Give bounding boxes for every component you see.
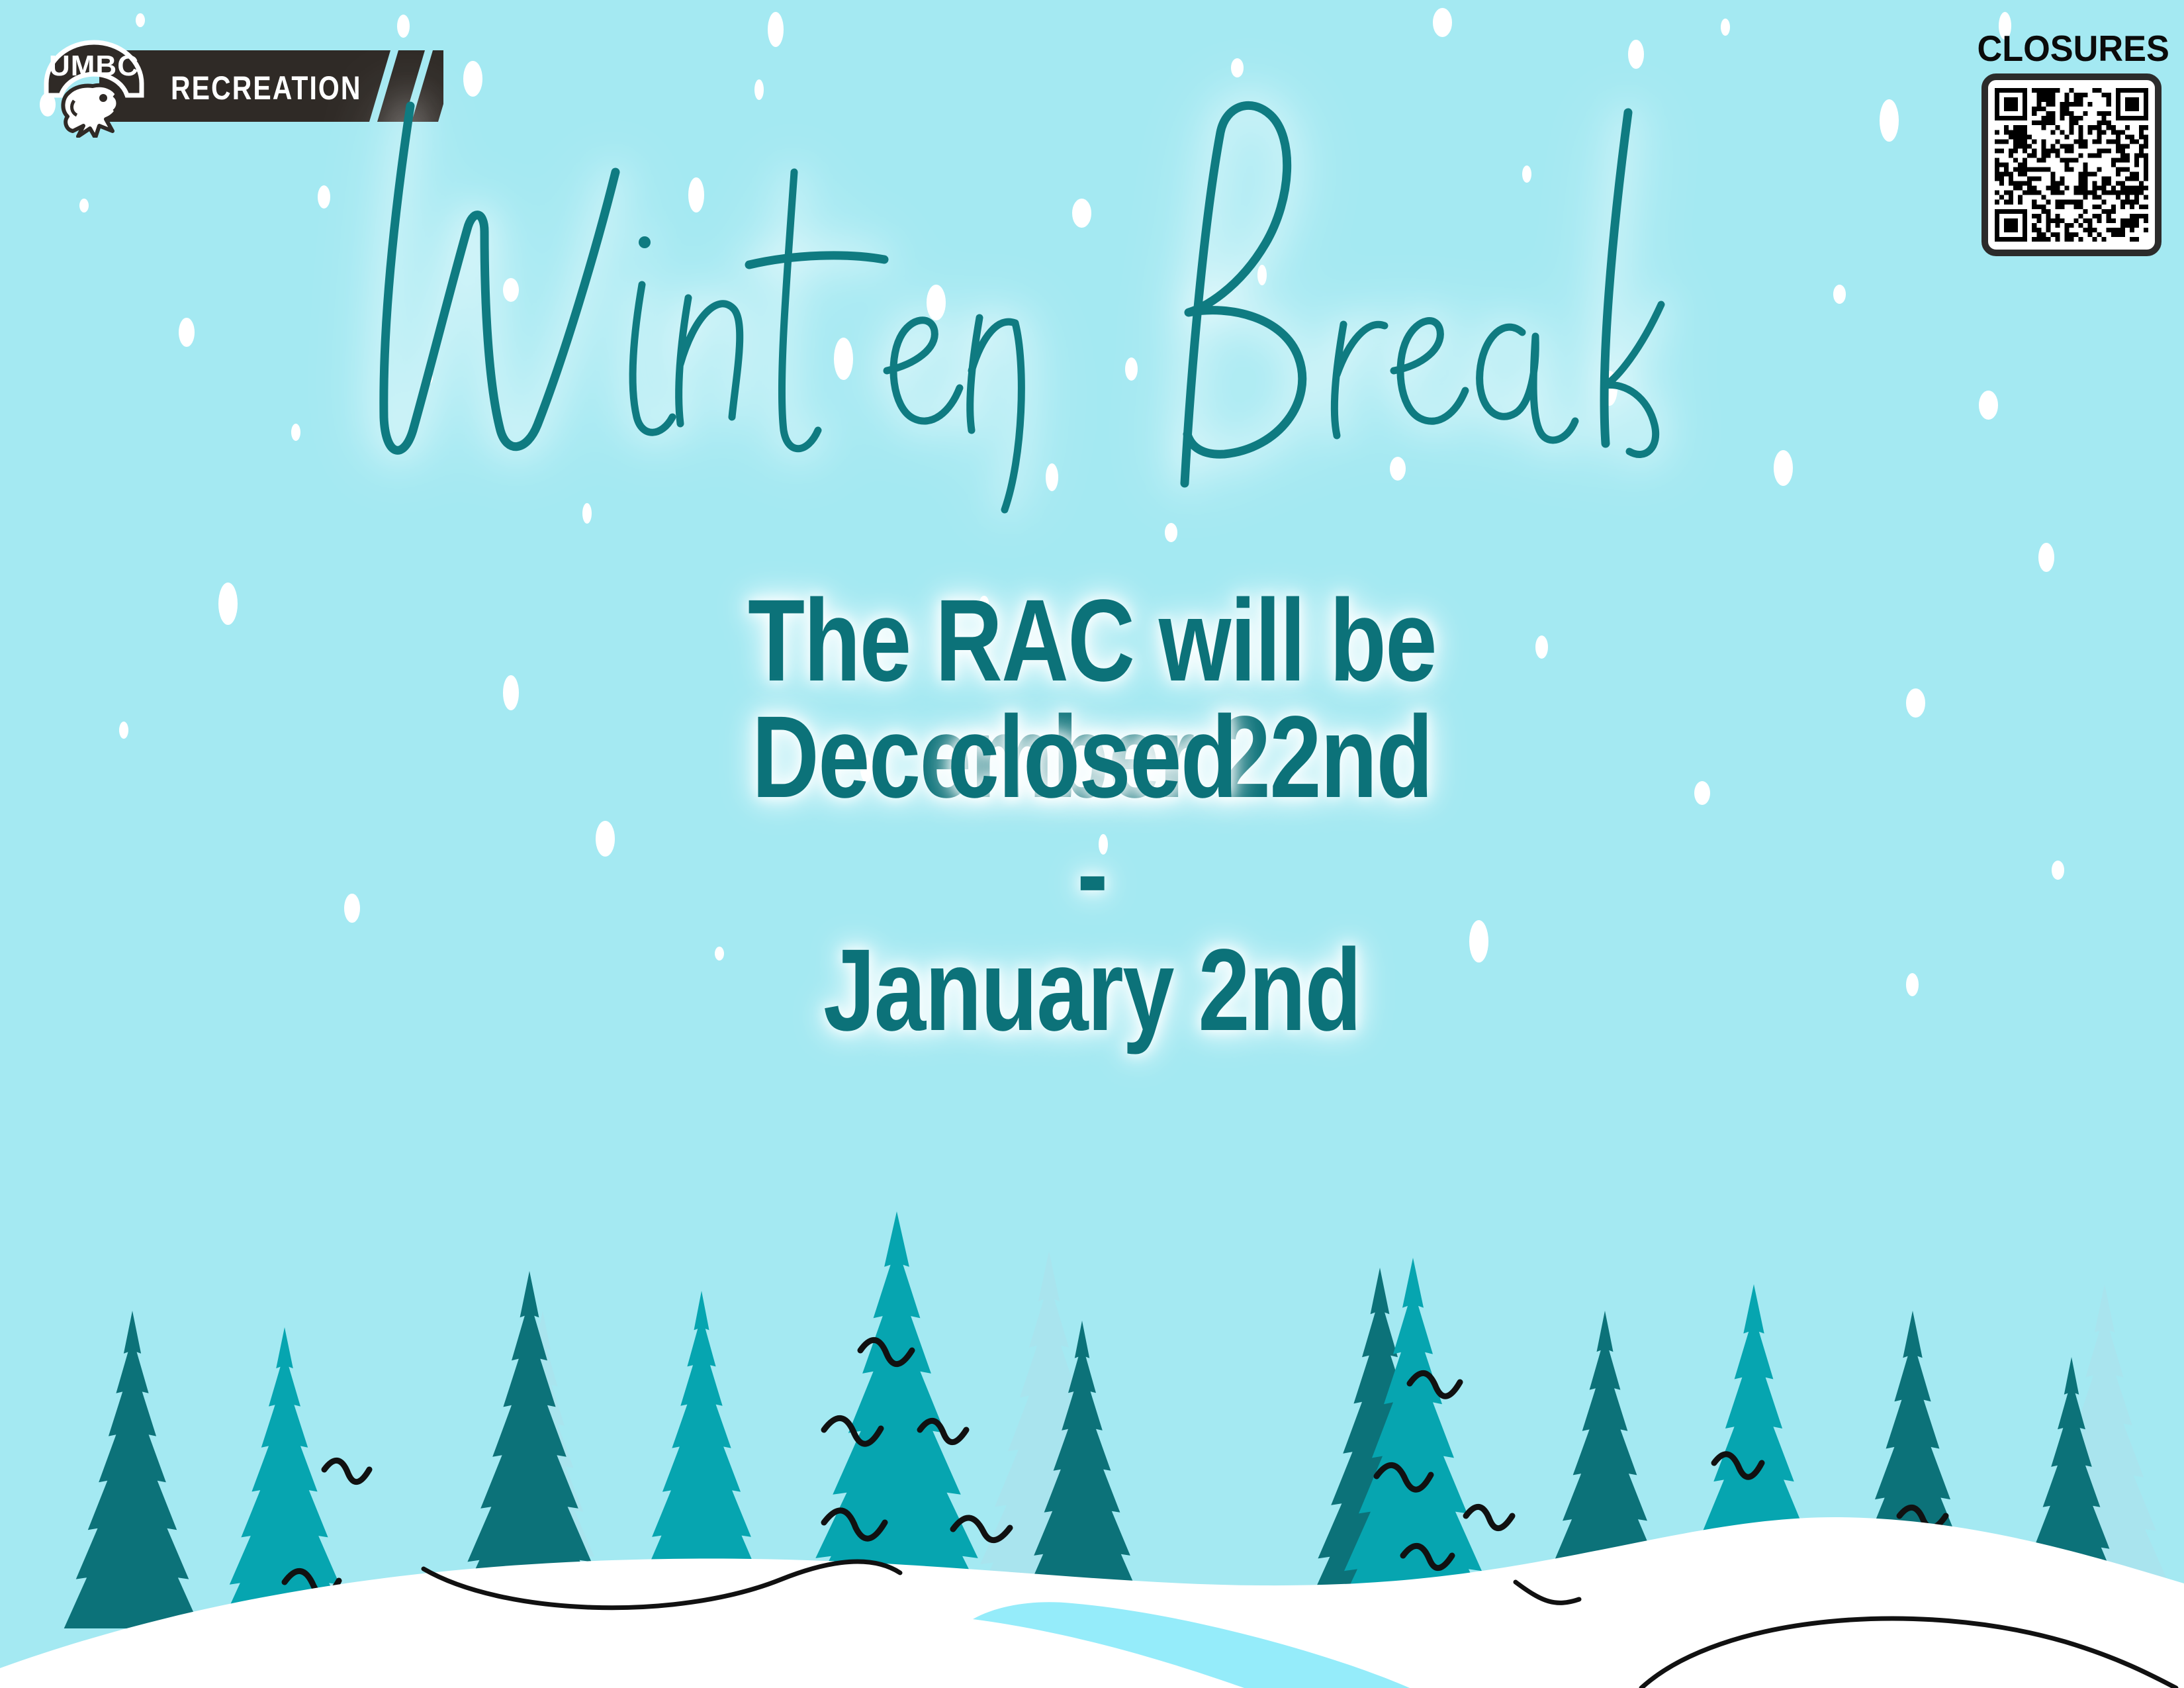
svg-text:UMBC: UMBC (49, 50, 139, 82)
umbc-recreation-logo: UMBC RECREATION (20, 32, 443, 138)
umbc-retriever-icon: UMBC (34, 32, 154, 138)
closures-label: CLOSURES (1978, 30, 2166, 67)
logo-wordmark: RECREATION (171, 69, 362, 107)
closures-qr-block[interactable]: CLOSURES (1972, 30, 2171, 256)
winter-break-poster: UMBC RECREATION CLOSURES (0, 0, 2184, 1688)
winter-landscape (0, 1092, 2184, 1688)
message-block: The RAC will be December 22nd - January … (0, 583, 2184, 1049)
message-closed-overlay: closed (218, 699, 1966, 816)
qr-code-icon[interactable] (1981, 73, 2161, 256)
message-dash: - (218, 816, 1966, 932)
message-line-1: The RAC will be (218, 583, 1966, 699)
message-line-4: January 2nd (218, 932, 1966, 1049)
